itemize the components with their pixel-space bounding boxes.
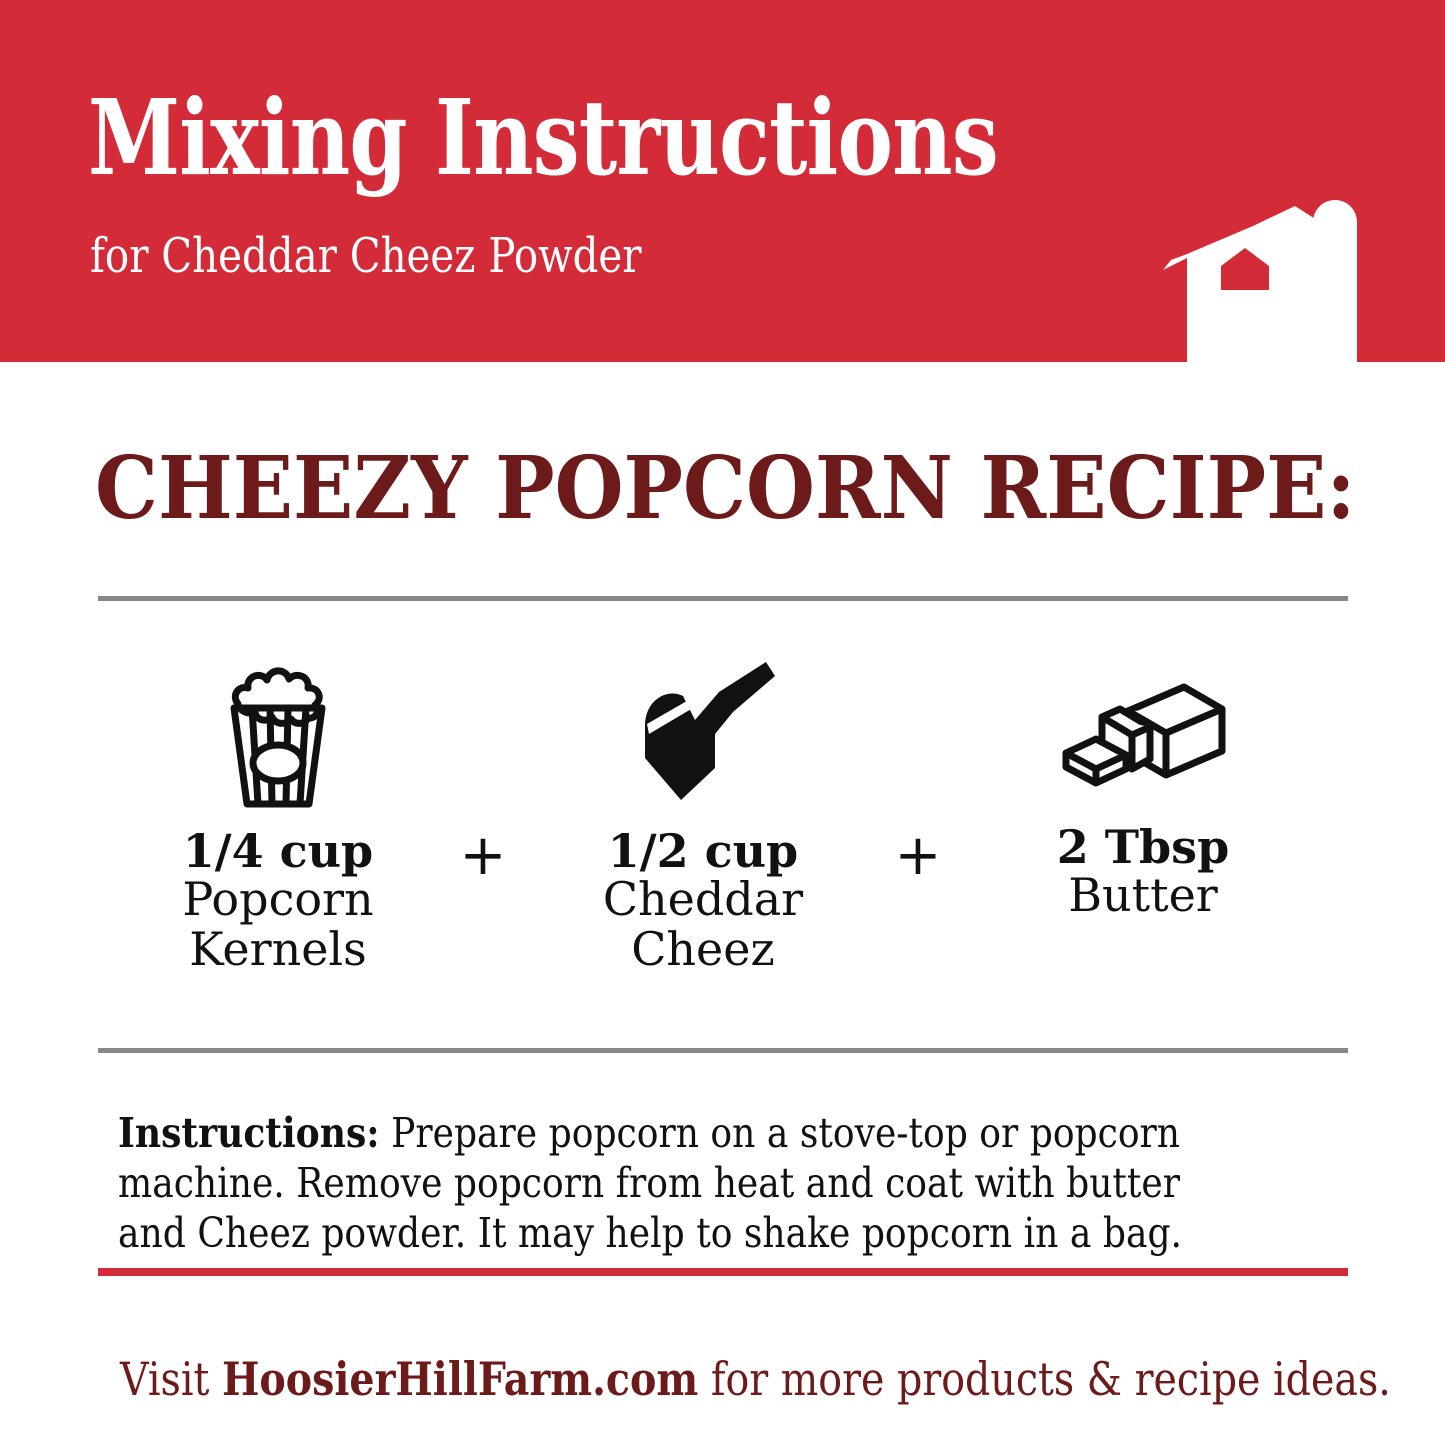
divider-red: [98, 1268, 1348, 1276]
measuring-scoop-icon: [553, 650, 853, 815]
footer-note: Visit HoosierHillFarm.com for more produ…: [120, 1356, 1391, 1402]
divider-top: [98, 596, 1348, 601]
instructions-label: Instructions:: [118, 1109, 380, 1157]
ingredient-amount: 2 Tbsp: [993, 823, 1293, 871]
page-subtitle: for Cheddar Cheez Powder: [90, 232, 642, 280]
header-banner: Mixing Instructions for Cheddar Cheez Po…: [0, 0, 1445, 362]
instructions-paragraph: Instructions: Prepare popcorn on a stove…: [118, 1108, 1202, 1258]
divider-bottom: [98, 1048, 1348, 1053]
plus-sign-1: +: [453, 828, 513, 884]
plus-sign-2: +: [888, 828, 948, 884]
ingredient-butter: 2 Tbsp Butter: [993, 650, 1293, 921]
recipe-heading: CHEEZY POPCORN RECIPE:: [95, 446, 1356, 532]
popcorn-box-icon: [128, 650, 428, 815]
barn-and-silo-icon: [1145, 162, 1445, 362]
ingredient-popcorn-kernels: 1/4 cup Popcorn Kernels: [128, 650, 428, 975]
page-title: Mixing Instructions: [88, 86, 998, 190]
ingredient-name-line-1: Popcorn: [128, 875, 428, 925]
ingredient-name-line-1: Butter: [993, 871, 1293, 921]
butter-stick-icon: [993, 650, 1293, 795]
ingredient-cheddar-cheez: 1/2 cup Cheddar Cheez: [553, 650, 853, 975]
ingredient-amount: 1/4 cup: [128, 827, 428, 875]
footer-website-link[interactable]: HoosierHillFarm.com: [222, 1352, 698, 1406]
ingredient-name-line-1: Cheddar: [553, 875, 853, 925]
ingredient-amount: 1/2 cup: [553, 827, 853, 875]
ingredient-name-line-2: Cheez: [553, 925, 853, 975]
footer-prefix: Visit: [120, 1352, 222, 1406]
footer-suffix: for more products & recipe ideas.: [698, 1352, 1391, 1406]
recipe-infographic: Mixing Instructions for Cheddar Cheez Po…: [0, 0, 1445, 1445]
ingredient-name-line-2: Kernels: [128, 925, 428, 975]
ingredients-row: 1/4 cup Popcorn Kernels + 1/2 cup Chedda…: [98, 650, 1348, 990]
